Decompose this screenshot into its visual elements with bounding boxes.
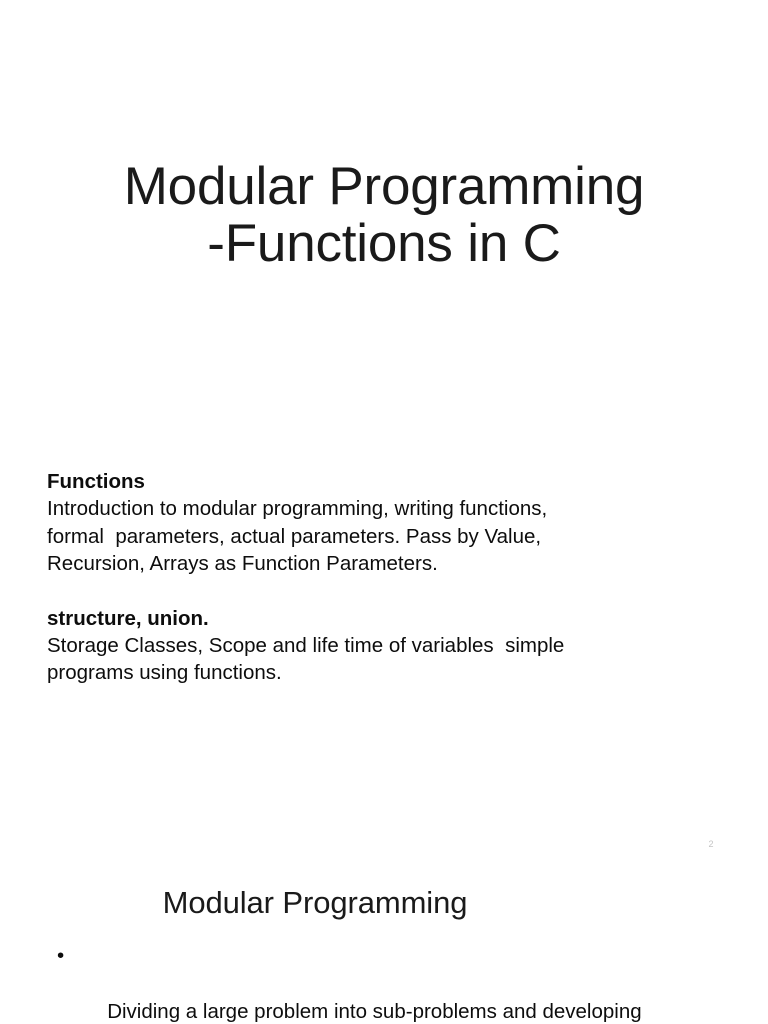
syllabus-body-structure-union: Storage Classes, Scope and life time of …: [47, 632, 607, 687]
syllabus-heading-functions: Functions: [47, 468, 607, 495]
syllabus-heading-structure-union: structure, union.: [47, 605, 607, 632]
slide-number: 2: [700, 838, 722, 850]
syllabus-spacer: [47, 578, 607, 605]
bullet-list: • Dividing a large problem into sub-prob…: [56, 942, 716, 1024]
syllabus-block: Functions Introduction to modular progra…: [47, 468, 607, 687]
section-title: Modular Programming: [34, 884, 596, 922]
syllabus-body-functions: Introduction to modular programming, wri…: [47, 495, 607, 577]
deck-title: Modular Programming -Functions in C: [0, 158, 768, 272]
bullet-dot-icon: •: [57, 942, 69, 970]
slide-modular-programming: Modular Programming • Dividing a large p…: [0, 864, 768, 1024]
list-item: • Dividing a large problem into sub-prob…: [56, 942, 716, 1024]
slide-title-and-syllabus: Modular Programming -Functions in C Func…: [0, 0, 768, 864]
list-item-text: Dividing a large problem into sub-proble…: [73, 1000, 647, 1024]
